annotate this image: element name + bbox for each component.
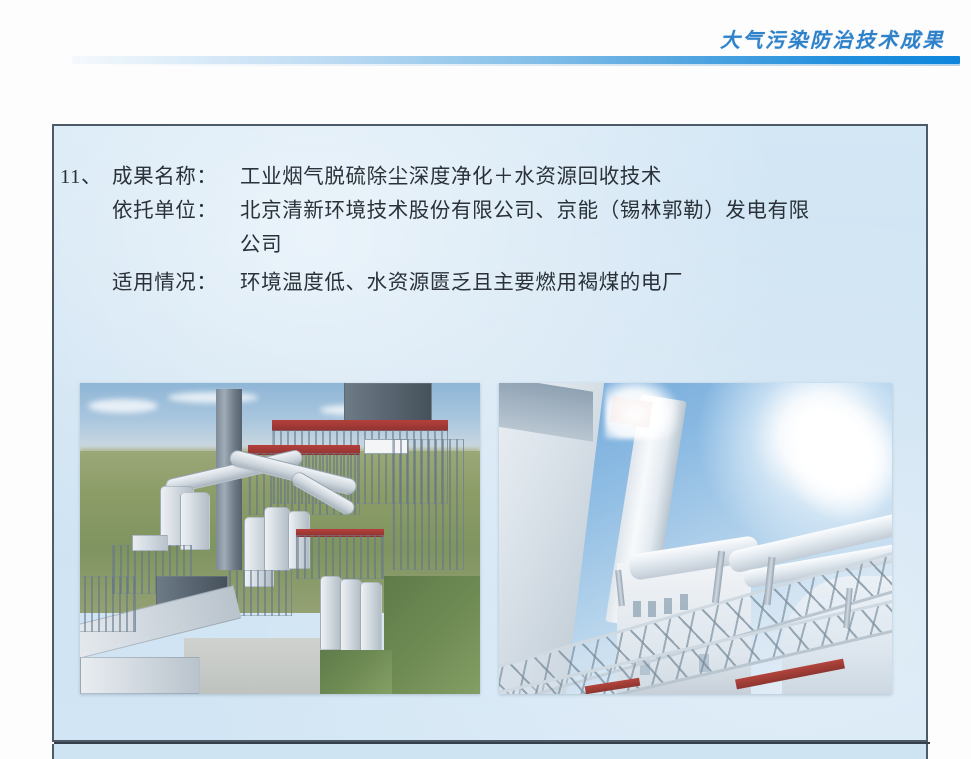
office-building: [296, 535, 384, 579]
entry-label-name: 成果名称：: [112, 160, 240, 194]
entry-label-application: 适用情况：: [112, 266, 240, 300]
entry-value-name: 工业烟气脱硫除尘深度净化＋水资源回收技术: [240, 160, 900, 194]
greenery-area: [384, 576, 480, 694]
entry-number-spacer: 11、: [54, 194, 112, 228]
greenery-area: [320, 650, 392, 694]
entry-row: 11、 依托单位： 北京清新环境技术股份有限公司、京能（锡林郭勒）发电有限: [54, 194, 908, 228]
entry-row: 11、 成果名称： 工业烟气脱硫除尘深度净化＋水资源回收技术: [54, 160, 908, 194]
page-header: 大气污染防治技术成果: [0, 0, 971, 70]
achievement-text-block: 11、 成果名称： 工业烟气脱硫除尘深度净化＋水资源回收技术 11、 依托单位：…: [54, 126, 930, 300]
entry-number-spacer: 11、: [54, 228, 112, 262]
header-rule-shadow: [72, 64, 960, 66]
foreground-building: [80, 576, 136, 632]
building-window: [680, 594, 688, 610]
entry-label-organization: 依托单位：: [112, 194, 240, 228]
building-window: [648, 601, 656, 617]
coal-silo: [340, 579, 362, 651]
tall-tower: [392, 439, 464, 570]
next-section-top: [52, 744, 928, 759]
entry-number: 11、: [54, 160, 112, 194]
entry-value-organization: 北京清新环境技术股份有限公司、京能（锡林郭勒）发电有限: [240, 194, 900, 228]
plant-yard: [184, 638, 320, 694]
entry-row: 11、 适用情况： 环境温度低、水资源匮乏且主要燃用褐煤的电厂: [54, 266, 908, 300]
header-accent-rule: [72, 56, 960, 64]
building-window: [633, 601, 641, 617]
entry-value-organization-continued: 公司: [240, 228, 900, 262]
building-window: [664, 598, 672, 614]
entry-value-application: 环境温度低、水资源匮乏且主要燃用褐煤的电厂: [240, 266, 900, 300]
absorber-tower: [180, 492, 210, 550]
steam-plume: [605, 383, 679, 439]
photo-strip: [80, 383, 904, 695]
achievement-card: 11、 成果名称： 工业烟气脱硫除尘深度净化＋水资源回收技术 11、 依托单位：…: [52, 124, 928, 742]
absorber-tower: [264, 507, 290, 571]
coal-silo: [360, 582, 382, 652]
photo-stack-upward: [499, 383, 892, 694]
page-title: 大气污染防治技术成果: [720, 24, 945, 53]
entry-row: 11、 公司: [54, 228, 908, 262]
cloud-shape: [88, 399, 158, 413]
aux-roof: [132, 535, 168, 551]
photo-plant-overview: [80, 383, 480, 694]
coal-silo: [320, 576, 342, 650]
entry-number-spacer: 11、: [54, 266, 112, 300]
foreground-roof: [80, 657, 200, 694]
